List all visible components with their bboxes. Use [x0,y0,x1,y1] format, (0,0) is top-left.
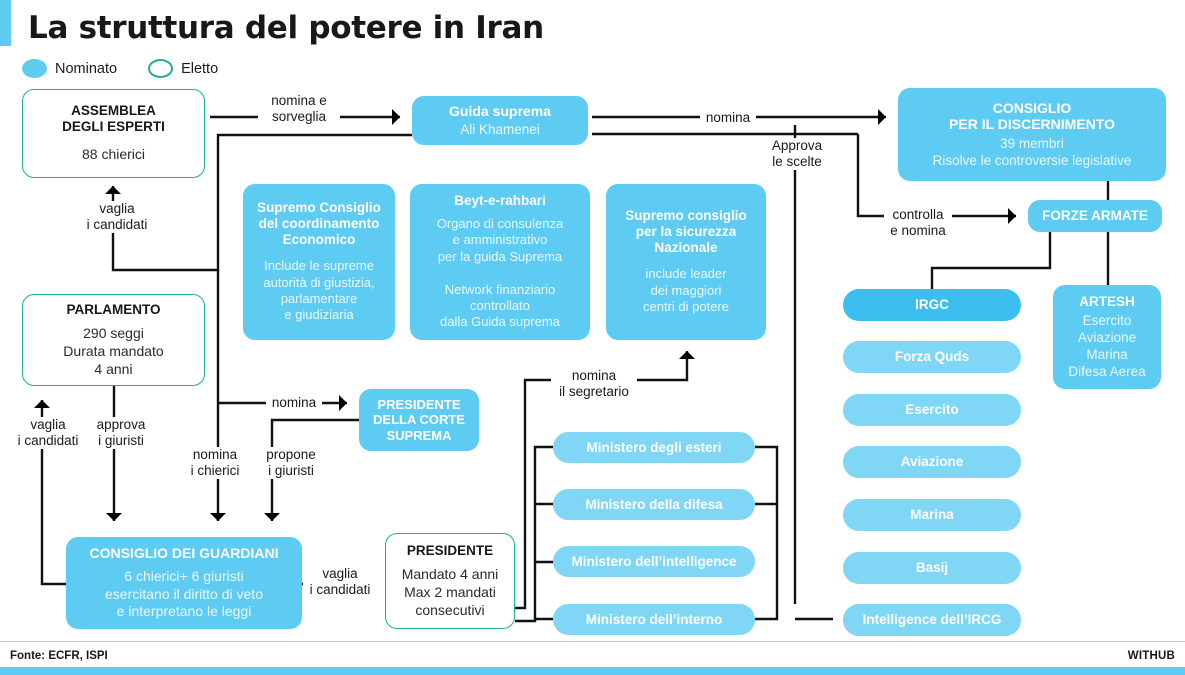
force-label: Esercito [905,402,958,418]
node-sub-line: Include le supreme [263,258,374,274]
node-title-line: Supremo Consiglio [257,200,381,216]
node-sub-line: dei maggiori [643,283,729,299]
node-sub-line [437,265,563,281]
node-title: Guida suprema [449,103,551,119]
node-sub-line: Mandato 4 anni [402,566,499,584]
node-sub-line: e amministrativo [437,232,563,248]
cap-controlla-nomina: controlla e nomina [884,207,952,239]
node-title-line: CONSIGLIO [949,100,1115,116]
node-title: Supremo Consigliodel coordinamentoEconom… [257,200,381,247]
force-basij[interactable]: Basij [843,552,1021,584]
ministry-min-intelligence[interactable]: Ministero dell’intelligence [553,546,755,577]
force-label: IRGC [915,297,949,313]
cap-nomina-segr: nomina il segretario [551,368,637,400]
node-sub-line: 88 chierici [82,146,145,164]
node-title-line: DEGLI ESPERTI [62,119,165,135]
force-label: Intelligence dell’IRCG [863,612,1002,628]
title-accent-bar [0,0,11,46]
node-subtitle: EsercitoAviazioneMarinaDifesa Aerea [1068,312,1145,380]
source-note: Fonte: ECFR, ISPI [10,650,108,662]
node-title-line: ARTESH [1079,294,1135,310]
link-min-esteri-right [755,447,777,504]
node-sub-line: Durata mandato [63,343,163,361]
node-title-line: del coordinamento [257,216,381,232]
node-parlamento[interactable]: PARLAMENTO290 seggiDurata mandato4 anni [22,294,205,386]
arrowhead-guardiani-to-parlamento [34,400,50,408]
force-intel-ircg[interactable]: Intelligence dell’IRCG [843,604,1021,636]
node-sub-line: e giudiziaria [263,307,374,323]
node-sub-line: Aviazione [1068,329,1145,346]
arrowhead-guida-to-assemblea [105,186,121,194]
ministry-label: Ministero degli esteri [586,440,721,456]
node-subtitle: 39 membriRisolve le controversie legisla… [933,135,1132,169]
node-title-line: Economico [257,232,381,248]
node-cortesuprema[interactable]: PRESIDENTEDELLA CORTESUPREMA [359,389,479,451]
arrowhead-presidente-to-segretario [679,351,695,359]
node-title-line: PRESIDENTE [373,397,465,412]
node-title-line: Beyt-e-rahbari [454,193,546,209]
node-sub-line: Risolve le controversie legislative [933,152,1132,169]
cap-approva-scelte: Approva le scelte [766,138,828,170]
node-presidente[interactable]: PRESIDENTEMandato 4 anniMax 2 mandaticon… [385,533,515,629]
force-label: Basij [916,560,948,576]
ministry-label: Ministero dell’interno [586,612,723,628]
arrowhead-corte-to-guardiani [264,513,280,521]
node-assemblea[interactable]: ASSEMBLEADEGLI ESPERTI88 chierici [22,89,205,178]
node-title: ASSEMBLEADEGLI ESPERTI [62,103,165,134]
node-beyt[interactable]: Beyt-e-rahbariOrgano di consulenzae ammi… [410,184,590,340]
node-sub-line: dalla Guida suprema [437,314,563,330]
node-title-line: FORZE ARMATE [1042,208,1148,224]
link-forze-to-irgc [932,232,1050,289]
legend: Nominato Eletto [22,59,240,78]
filled-circle-icon [22,59,47,78]
cap-nomina-guida: nomina [700,110,756,126]
ministry-label: Ministero della difesa [585,497,722,513]
ministry-min-esteri[interactable]: Ministero degli esteri [553,432,755,463]
node-title-line: SUPREMA [373,428,465,443]
node-sub-line: e interpretano le leggi [105,603,263,621]
node-subtitle: Ali Khamenei [460,121,540,138]
cap-nomina-chierici: nomina i chierici [182,447,248,479]
node-title-line: PER IL DISCERNIMENTO [949,116,1115,132]
cap-vaglia-cand-1: vaglia i candidati [80,201,154,233]
link-presidente-to-min [515,447,553,621]
node-title-line: DELLA CORTE [373,412,465,427]
node-title: CONSIGLIOPER IL DISCERNIMENTO [949,100,1115,132]
node-title-line: ASSEMBLEA [62,103,165,119]
arrowhead-assemblea-to-guida [392,109,400,125]
node-sicurezza[interactable]: Supremo consiglioper la sicurezzaNaziona… [606,184,766,340]
node-subtitle: Mandato 4 anniMax 2 mandaticonsecutivi [402,566,499,619]
infographic-canvas: La struttura del potere in Iran Nominato… [0,0,1185,675]
footer-accent-bar [0,667,1185,675]
node-title-line: PARLAMENTO [67,302,161,318]
node-sub-line: controllato [437,298,563,314]
node-subtitle: Organo di consulenzae amministrativoper … [437,216,563,331]
force-marina[interactable]: Marina [843,499,1021,531]
node-title: Supremo consiglioper la sicurezzaNaziona… [625,208,747,255]
force-esercito[interactable]: Esercito [843,394,1021,426]
arrowhead-parlamento-to-guardiani [106,513,122,521]
footer-divider [0,641,1185,642]
cap-nomina-sorveglia: nomina e sorveglia [258,93,340,125]
node-title-line: PRESIDENTE [407,543,493,559]
node-sub-line: Difesa Aerea [1068,363,1145,380]
node-sub-line: consecutivi [402,602,499,620]
node-sub-line: Max 2 mandati [402,584,499,602]
node-sub-line: esercitano il diritto di veto [105,586,263,604]
link-min-interno-right [755,504,777,619]
ministry-min-difesa[interactable]: Ministero della difesa [553,489,755,520]
node-title: PRESIDENTEDELLA CORTESUPREMA [373,397,465,442]
cap-vaglia-cand-3: vaglia i candidati [303,566,377,598]
ministry-label: Ministero dell’intelligence [571,554,736,570]
node-sub-line: per la guida Suprema [437,249,563,265]
node-sub-line: parlamentare [263,291,374,307]
legend-label-nominato: Nominato [55,61,117,77]
node-sub-line: centri di potere [643,299,729,315]
node-sub-line: Ali Khamenei [460,121,540,138]
node-title: ARTESH [1079,294,1135,310]
node-discernimento[interactable]: CONSIGLIOPER IL DISCERNIMENTO39 membriRi… [898,88,1166,181]
node-title: Beyt-e-rahbari [454,193,546,209]
node-sub-line: 4 anni [63,361,163,379]
arrowhead-guida-to-guardiani-chierici [210,513,226,521]
node-guida[interactable]: Guida supremaAli Khamenei [412,96,588,145]
node-title-line: Supremo consiglio [625,208,747,224]
ministry-min-interno[interactable]: Ministero dell’interno [553,604,755,635]
node-forzearmate[interactable]: FORZE ARMATE [1028,200,1162,232]
legend-item-nominato: Nominato [22,59,117,78]
node-subtitle: Include le supremeautorità di giustizia,… [263,258,374,324]
force-label: Marina [910,507,954,523]
node-title: FORZE ARMATE [1042,208,1148,224]
arrowhead-guida-to-discernimento [878,109,886,125]
cap-vaglia-cand-2: vaglia i candidati [11,417,85,449]
node-sub-line: 6 chierici+ 6 giuristi [105,568,263,586]
node-title: PARLAMENTO [67,302,161,318]
node-sub-line: Organo di consulenza [437,216,563,232]
node-sub-line: Network finanziario [437,282,563,298]
legend-label-eletto: Eletto [181,61,218,77]
node-title: CONSIGLIO DEI GUARDIANI [89,545,278,561]
outline-circle-icon [148,59,173,78]
node-sub-line: 39 membri [933,135,1132,152]
node-sub-line: include leader [643,266,729,282]
node-sub-line: Marina [1068,346,1145,363]
node-sub-line: autorità di giustizia, [263,275,374,291]
arrowhead-controlla-e-nomina [1008,208,1016,224]
node-subtitle: 88 chierici [82,146,145,164]
arrowhead-guida-to-corte [339,395,347,411]
node-artesh[interactable]: ARTESHEsercitoAviazioneMarinaDifesa Aere… [1053,285,1161,389]
node-title-line: Guida suprema [449,103,551,119]
legend-item-eletto: Eletto [148,59,218,78]
node-title-line: per la sicurezza [625,224,747,240]
node-subtitle: 290 seggiDurata mandato4 anni [63,325,163,378]
node-sub-line: Esercito [1068,312,1145,329]
cap-nomina-corte: nomina [266,395,322,411]
node-sub-line: 290 seggi [63,325,163,343]
node-subtitle: 6 chierici+ 6 giuristiesercitano il diri… [105,568,263,621]
node-title: PRESIDENTE [407,543,493,559]
node-sccoord[interactable]: Supremo Consigliodel coordinamentoEconom… [243,184,395,340]
force-aviazione[interactable]: Aviazione [843,446,1021,478]
brand-logo: WITHUB [1128,650,1175,662]
page-title: La struttura del potere in Iran [28,10,544,46]
force-label: Aviazione [901,454,964,470]
cap-approva-giuristi: approva i giuristi [88,417,154,449]
force-label: Forza Quds [895,349,969,365]
force-irgc[interactable]: IRGC [843,289,1021,321]
node-title-line: CONSIGLIO DEI GUARDIANI [89,545,278,561]
force-forza-quds[interactable]: Forza Quds [843,341,1021,373]
node-title-line: Nazionale [625,240,747,256]
node-guardiani[interactable]: CONSIGLIO DEI GUARDIANI6 chierici+ 6 giu… [66,537,302,629]
cap-propone-giuristi: propone i giuristi [258,447,324,479]
node-subtitle: include leaderdei maggioricentri di pote… [643,266,729,315]
